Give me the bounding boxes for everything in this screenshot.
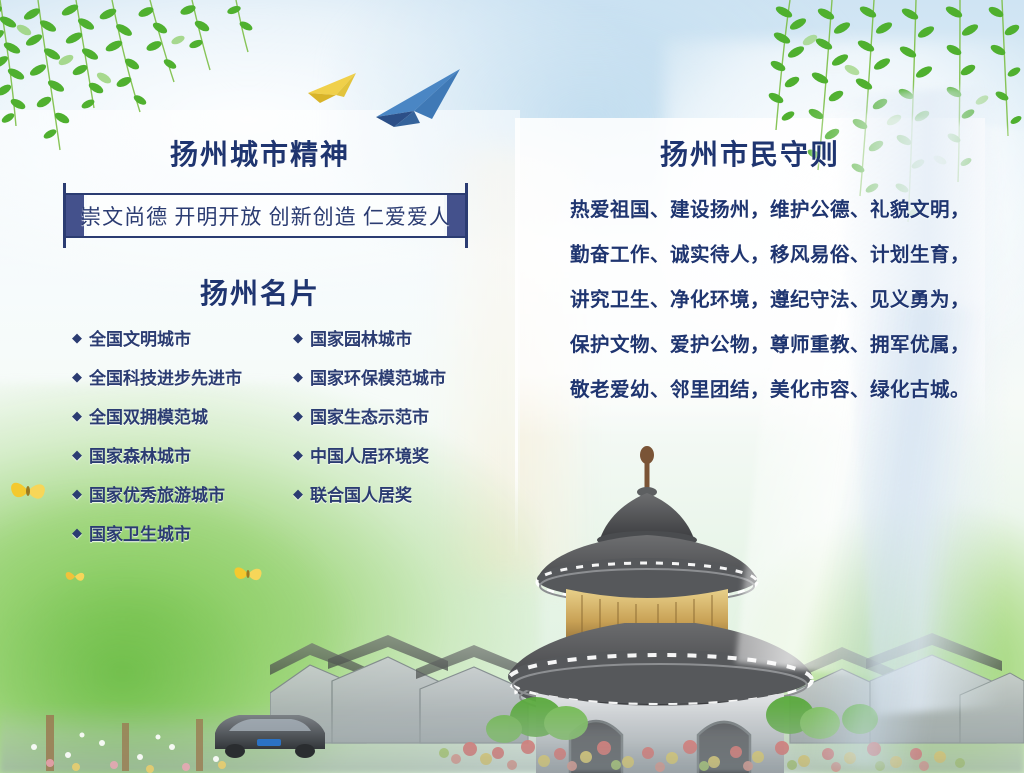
code-line: 勤奋工作、诚实待人，移风易俗、计划生育， (570, 233, 985, 278)
diamond-bullet-icon: ◆ (293, 409, 303, 422)
citizen-code-title: 扬州市民守则 (515, 133, 985, 173)
butterfly-icon (8, 476, 48, 506)
list-item: ◆ 国家卫生城市 (72, 513, 281, 552)
list-item: ◆ 联合国人居奖 (293, 474, 502, 513)
code-line: 保护文物、爱护公物，尊师重教、拥军优属， (570, 323, 985, 368)
list-item-label: 国家优秀旅游城市 (89, 481, 225, 506)
diamond-bullet-icon: ◆ (72, 487, 82, 500)
list-item-label: 国家生态示范市 (310, 403, 429, 428)
list-item: ◆ 全国双拥模范城 (72, 396, 281, 435)
list-item-label: 国家卫生城市 (89, 520, 191, 545)
frame-right-rail (465, 183, 468, 248)
diamond-bullet-icon: ◆ (72, 409, 82, 422)
city-namecard-lists: ◆ 全国文明城市 ◆ 全国科技进步先进市 ◆ 全国双拥模范城 ◆ 国家森林城市 … (72, 318, 502, 552)
code-line: 讲究卫生、净化环境，遵纪守法、见义勇为， (570, 278, 985, 323)
diamond-bullet-icon: ◆ (72, 370, 82, 383)
city-motto-inner: 崇文尚德 开明开放 创新创造 仁爱爱人 (87, 195, 444, 236)
list-item: ◆ 中国人居环境奖 (293, 435, 502, 474)
butterfly-icon (64, 568, 86, 585)
diamond-bullet-icon: ◆ (72, 448, 82, 461)
city-namecard-title: 扬州名片 (0, 272, 520, 312)
list-item-label: 全国科技进步先进市 (89, 364, 242, 389)
list-item-label: 全国文明城市 (89, 325, 191, 350)
tree-cluster-icon (10, 643, 260, 773)
diamond-bullet-icon: ◆ (72, 526, 82, 539)
list-item-label: 国家园林城市 (310, 325, 412, 350)
diamond-bullet-icon: ◆ (293, 331, 303, 344)
diamond-bullet-icon: ◆ (293, 448, 303, 461)
namecard-column-1: ◆ 全国文明城市 ◆ 全国科技进步先进市 ◆ 全国双拥模范城 ◆ 国家森林城市 … (72, 318, 281, 552)
list-item-label: 全国双拥模范城 (89, 403, 208, 428)
list-item: ◆ 全国文明城市 (72, 318, 281, 357)
code-line: 敬老爱幼、邻里团结，美化市容、绿化古城。 (570, 368, 985, 413)
diamond-bullet-icon: ◆ (72, 331, 82, 344)
list-item-label: 联合国人居奖 (310, 481, 412, 506)
list-item: ◆ 国家环保模范城市 (293, 357, 502, 396)
namecard-column-2: ◆ 国家园林城市 ◆ 国家环保模范城市 ◆ 国家生态示范市 ◆ 中国人居环境奖 … (293, 318, 502, 552)
diamond-bullet-icon: ◆ (293, 487, 303, 500)
city-spirit-title: 扬州城市精神 (0, 133, 520, 173)
list-item: ◆ 全国科技进步先进市 (72, 357, 281, 396)
list-item: ◆ 国家森林城市 (72, 435, 281, 474)
poster-canvas: 扬州城市精神 崇文尚德 开明开放 创新创造 仁爱爱人 扬州名片 ◆ 全国文明城市… (0, 0, 1024, 773)
list-item-label: 中国人居环境奖 (310, 442, 429, 467)
list-item-label: 国家环保模范城市 (310, 364, 446, 389)
code-line: 热爱祖国、建设扬州，维护公德、礼貌文明， (570, 188, 985, 233)
paper-plane-icon (376, 69, 460, 127)
diamond-bullet-icon: ◆ (293, 370, 303, 383)
citizen-code-body: 热爱祖国、建设扬州，维护公德、礼貌文明， 勤奋工作、诚实待人，移风易俗、计划生育… (570, 188, 985, 413)
list-item: ◆ 国家园林城市 (293, 318, 502, 357)
frame-bottom-line (66, 236, 465, 238)
list-item-label: 国家森林城市 (89, 442, 191, 467)
list-item: ◆ 国家生态示范市 (293, 396, 502, 435)
city-motto-text: 崇文尚德 开明开放 创新创造 仁爱爱人 (80, 201, 451, 231)
paper-planes-group (300, 55, 490, 135)
paper-plane-icon (308, 73, 356, 103)
butterfly-icon (232, 562, 264, 586)
list-item: ◆ 国家优秀旅游城市 (72, 474, 281, 513)
city-motto-frame: 崇文尚德 开明开放 创新创造 仁爱爱人 (63, 183, 468, 248)
